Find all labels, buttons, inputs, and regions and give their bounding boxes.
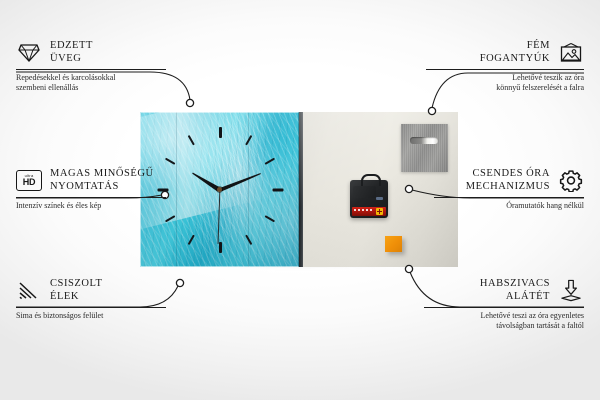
dial-tick-1	[245, 134, 252, 145]
callout-title: CSISZOLT ÉLEK	[50, 278, 102, 303]
dial-tick-8	[164, 215, 175, 222]
battery-plus-terminal	[376, 208, 383, 215]
callout-rule	[16, 307, 166, 308]
callout-fem-fogantyuk: FÉM FOGANTYÚK Lehetővé teszik az óra kön…	[426, 40, 584, 93]
callout-magas-minosegu-nyomtatas: ultra HD MAGAS MINŐSÉGŰ NYOMTATÁS Intenz…	[16, 168, 166, 211]
dial-tick-4	[264, 215, 275, 222]
callout-header: CSISZOLT ÉLEK	[16, 278, 166, 303]
marker-csiszolt-elek	[176, 279, 183, 286]
callout-rule	[424, 307, 584, 308]
brushed-metal-texture	[401, 124, 448, 172]
battery-label-stripe	[354, 209, 374, 211]
callout-header: EDZETT ÜVEG	[16, 40, 166, 65]
clock-center-cap	[217, 187, 222, 192]
callout-rule	[16, 197, 166, 198]
callout-description: Repedésekkel és karcolásokkal szembeni e…	[16, 73, 166, 93]
callout-description: Sima és biztonságos felület	[16, 311, 166, 321]
dial-tick-11	[187, 134, 194, 145]
dial-tick-2	[264, 157, 275, 164]
diamond-icon	[16, 41, 42, 65]
foam-spacer-icon	[558, 279, 584, 303]
mechanism-hanger-loop	[361, 174, 381, 186]
callout-header: HABSZIVACS ALÁTÉT	[424, 278, 584, 303]
dial-tick-12	[219, 127, 222, 138]
polished-edges-icon	[16, 279, 42, 303]
callout-description: Óramutatók hang nélkül	[434, 201, 584, 211]
dial-tick-7	[187, 234, 194, 245]
callout-rule	[434, 197, 584, 198]
hanger-keyhole-slot	[410, 137, 438, 144]
dial-tick-3	[272, 188, 283, 191]
metal-hanger-plate	[401, 124, 448, 172]
foam-spacer-pad	[385, 236, 402, 252]
callout-habszivacs-alatet: HABSZIVACS ALÁTÉT Lehetővé teszi az óra …	[424, 278, 584, 331]
ultra-hd-main-label: HD	[23, 178, 36, 187]
ultra-hd-icon: ultra HD	[16, 169, 42, 193]
mechanism-label-dot	[376, 197, 383, 200]
callout-title: CSENDES ÓRA MECHANIZMUS	[466, 168, 550, 193]
clock-second-hand	[217, 189, 220, 243]
dial-tick-5	[245, 234, 252, 245]
dial-tick-6	[219, 242, 222, 253]
clock-minute-hand	[219, 171, 261, 191]
callout-header: ultra HD MAGAS MINŐSÉGŰ NYOMTATÁS	[16, 168, 166, 193]
infographic-stage: EDZETT ÜVEG Repedésekkel és karcolásokka…	[0, 0, 600, 400]
aa-battery	[352, 207, 385, 216]
callout-rule	[16, 69, 166, 70]
callout-description: Lehetővé teszi az óra egyenletes távolsá…	[424, 311, 584, 331]
callout-title: FÉM FOGANTYÚK	[480, 40, 550, 65]
callout-description: Intenzív színek és éles kép	[16, 201, 166, 211]
product-image	[140, 112, 458, 267]
callout-title: MAGAS MINŐSÉGŰ NYOMTATÁS	[50, 168, 154, 193]
dial-tick-10	[164, 157, 175, 164]
callout-edzett-uveg: EDZETT ÜVEG Repedésekkel és karcolásokka…	[16, 40, 166, 93]
wall-mount-icon	[558, 41, 584, 65]
callout-header: FÉM FOGANTYÚK	[426, 40, 584, 65]
callout-csiszolt-elek: CSISZOLT ÉLEK Sima és biztonságos felüle…	[16, 278, 166, 321]
callout-title: HABSZIVACS ALÁTÉT	[480, 278, 550, 303]
callout-csendes-ora-mechanizmus: CSENDES ÓRA MECHANIZMUS Óramutatók hang …	[434, 168, 584, 211]
marker-edzett-uveg	[186, 99, 193, 106]
callout-header: CSENDES ÓRA MECHANIZMUS	[434, 168, 584, 193]
callout-rule	[426, 69, 584, 70]
mechanism-housing	[353, 186, 376, 199]
clock-mechanism	[350, 180, 388, 218]
callout-description: Lehetővé teszik az óra könnyű felszerelé…	[426, 73, 584, 93]
gear-icon	[558, 169, 584, 193]
callout-title: EDZETT ÜVEG	[50, 40, 93, 65]
